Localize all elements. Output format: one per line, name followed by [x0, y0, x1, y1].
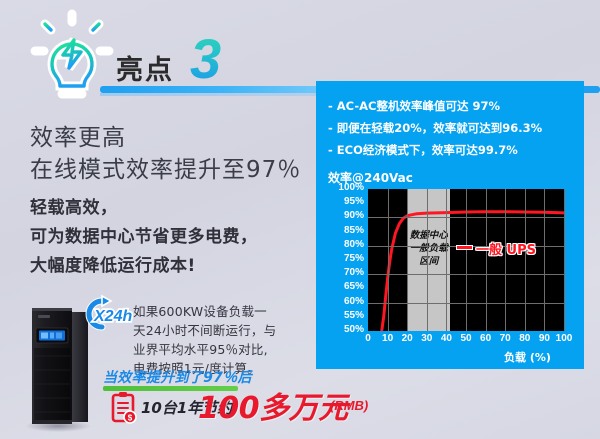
subtitle-line-1: 轻载高效， [30, 193, 118, 218]
chart-gridline-vertical [505, 189, 506, 331]
badge-24h-text: X24h [93, 308, 132, 325]
receipt-money-icon: $ [110, 391, 138, 425]
poster-canvas: 亮点 3 效率更高 在线模式效率提升至97％ 轻载高效， 可为数据中心节省更多电… [0, 0, 600, 439]
chart-gridline-vertical [446, 189, 447, 331]
chart-gridline-vertical [486, 189, 487, 331]
savings-currency-text: (RMB) [330, 398, 368, 413]
bullet-item-2: - 即便在轻载20%，效率就可达到96.3% [328, 120, 542, 136]
page-title-line-1: 效率更高 [30, 118, 126, 152]
chart-y-tick-label: 60% [344, 296, 364, 307]
chart-gridline-horizontal [368, 303, 564, 304]
note-line-1: 如果600KW设备负载一 [133, 301, 267, 320]
chart-y-tick-label: 55% [344, 310, 364, 321]
chart-gridline-vertical [525, 189, 526, 331]
chart-gridline-vertical [544, 189, 545, 331]
chart-y-tick-label: 70% [344, 267, 364, 278]
chart-gridline-horizontal [368, 217, 564, 218]
legend-label-general-ups: 一般 UPS [476, 239, 536, 258]
highlight-label: 亮点 [116, 48, 174, 87]
bullet-item-1: - AC-AC整机效率峰值可达 97% [328, 98, 500, 114]
chart-gridline-vertical [427, 189, 428, 331]
savings-amount-text: 100多万元 [198, 383, 348, 427]
efficiency-info-panel: - AC-AC整机效率峰值可达 97% - 即便在轻载20%，效率就可达到96.… [316, 81, 584, 369]
chart-gridline-vertical [564, 189, 565, 331]
chart-y-tick-label: 50% [344, 324, 364, 335]
chart-y-tick-label: 80% [344, 239, 364, 250]
note-line-3: 业界平均水平95％对比, [133, 339, 268, 358]
chart-y-tick-label: 100% [338, 182, 364, 193]
page-title-line-2: 在线模式效率提升至97％ [30, 150, 301, 184]
twenty-four-hour-badge-icon: X24h [72, 290, 136, 340]
chart-x-tick-label: 100 [553, 333, 575, 344]
chart-y-tick-label: 65% [344, 281, 364, 292]
chart-gridline-vertical [466, 189, 467, 331]
subtitle-line-3: 大幅度降低运行成本! [30, 251, 196, 276]
chart-y-tick-label: 85% [344, 225, 364, 236]
efficiency-load-chart: 数据中心一般负载区间 一般 UPS 负载 (%) 010203040506070… [326, 187, 576, 359]
chart-x-axis-label: 负载 (%) [504, 349, 551, 365]
bullet-item-3: - ECO经济模式下，效率可达99.7% [328, 142, 518, 158]
chart-gridline-vertical [407, 189, 408, 331]
chart-gridline-horizontal [368, 274, 564, 275]
svg-text:$: $ [128, 414, 133, 423]
subtitle-line-2: 可为数据中心节省更多电费， [30, 222, 258, 247]
chart-line-一般 UPS [382, 212, 564, 331]
chart-y-tick-label: 75% [344, 253, 364, 264]
chart-gridline-vertical [388, 189, 389, 331]
legend-marker-dash [457, 246, 472, 249]
chart-y-tick-label: 90% [344, 210, 364, 221]
chart-y-tick-label: 95% [344, 196, 364, 207]
highlight-number: 3 [190, 26, 221, 91]
note-line-2: 天24小时不间断运行，与 [133, 320, 276, 339]
chart-plot-area: 数据中心一般负载区间 [368, 189, 564, 331]
